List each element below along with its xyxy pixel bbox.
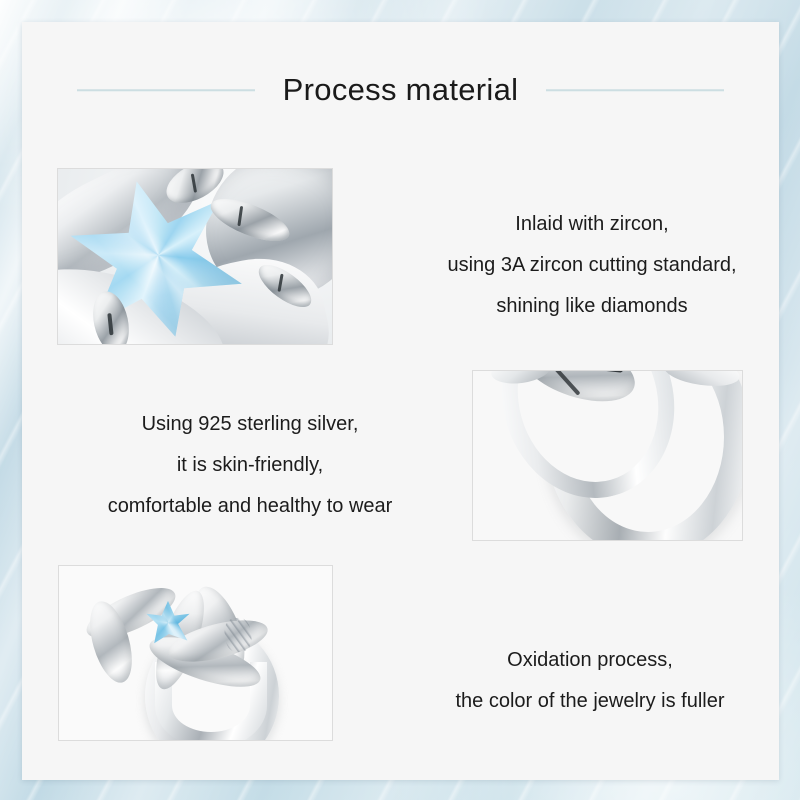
silver-band-illustration	[473, 371, 742, 540]
feature-line: the color of the jewelry is fuller	[410, 681, 770, 722]
content-card: Process material	[22, 22, 779, 780]
feature-line: Inlaid with zircon,	[422, 204, 762, 245]
prong-groove	[191, 174, 197, 193]
feature-line: Oxidation process,	[410, 640, 770, 681]
full-ring-illustration	[59, 566, 332, 740]
feature-text-zircon: Inlaid with zircon, using 3A zircon cutt…	[422, 204, 762, 327]
header-rule-right-icon	[546, 89, 724, 92]
feature-text-sterling-silver: Using 925 sterling silver, it is skin-fr…	[55, 404, 445, 527]
feature-line: Using 925 sterling silver,	[55, 404, 445, 445]
page-title: Process material	[283, 72, 519, 108]
feature-line: shining like diamonds	[422, 286, 762, 327]
page-header: Process material	[22, 62, 779, 118]
feature-line: comfortable and healthy to wear	[55, 486, 445, 527]
prong-groove	[278, 274, 284, 292]
prong-groove	[107, 313, 113, 335]
header-rule-left-icon	[77, 89, 255, 92]
feature-image-oxidation	[58, 565, 333, 741]
feature-line: it is skin-friendly,	[55, 445, 445, 486]
feature-image-zircon	[57, 168, 333, 345]
prong-groove	[237, 206, 243, 226]
product-detail-page: Process material	[0, 0, 800, 800]
feature-text-oxidation: Oxidation process, the color of the jewe…	[410, 640, 770, 722]
feature-line: using 3A zircon cutting standard,	[422, 245, 762, 286]
zircon-macro-illustration	[58, 169, 332, 344]
feature-image-sterling-silver	[472, 370, 743, 541]
